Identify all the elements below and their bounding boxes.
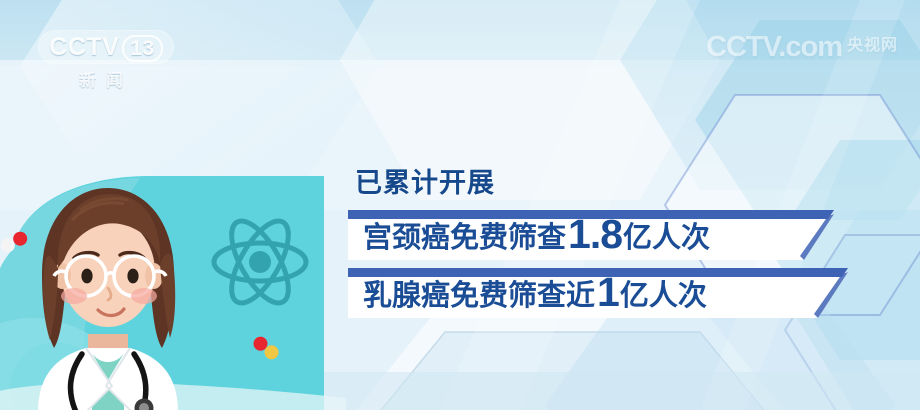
stat-banner-1: 宫颈癌免费筛查1.8亿人次	[348, 210, 834, 260]
cctv-com-watermark: CCTV.com 央视网	[706, 26, 898, 68]
banner-2-suffix: 亿人次	[620, 272, 707, 314]
banner-2-prefix: 乳腺癌免费筛查近	[363, 272, 595, 314]
watermark-chinese-text: 央视网	[847, 31, 898, 63]
logo-channel-number: 13	[122, 35, 162, 62]
banner-2-figure: 1	[597, 269, 619, 316]
watermark-latin-text: CCTV.com	[706, 31, 842, 64]
banner-1-text: 宫颈癌免费筛查1.8亿人次	[363, 210, 710, 260]
doctor-illustration	[0, 176, 346, 410]
stat-banner-2: 乳腺癌免费筛查近1亿人次	[348, 268, 848, 318]
banner-1-prefix: 宫颈癌免费筛查	[363, 214, 566, 256]
logo-cctv-label: CCTV	[49, 33, 119, 61]
banner-1-suffix: 亿人次	[623, 214, 710, 256]
broadcast-frame: CCTV13 新闻 CCTV.com 央视网	[0, 0, 920, 410]
logo-text: CCTV13	[38, 32, 174, 62]
channel-logo: CCTV13 新闻	[38, 30, 174, 92]
banner-2-text: 乳腺癌免费筛查近1亿人次	[363, 268, 707, 318]
doctor-figure	[38, 188, 178, 410]
page-title: 已累计开展	[355, 161, 495, 200]
logo-subtitle: 新闻	[38, 66, 174, 91]
banner-1-figure: 1.8	[568, 211, 622, 258]
